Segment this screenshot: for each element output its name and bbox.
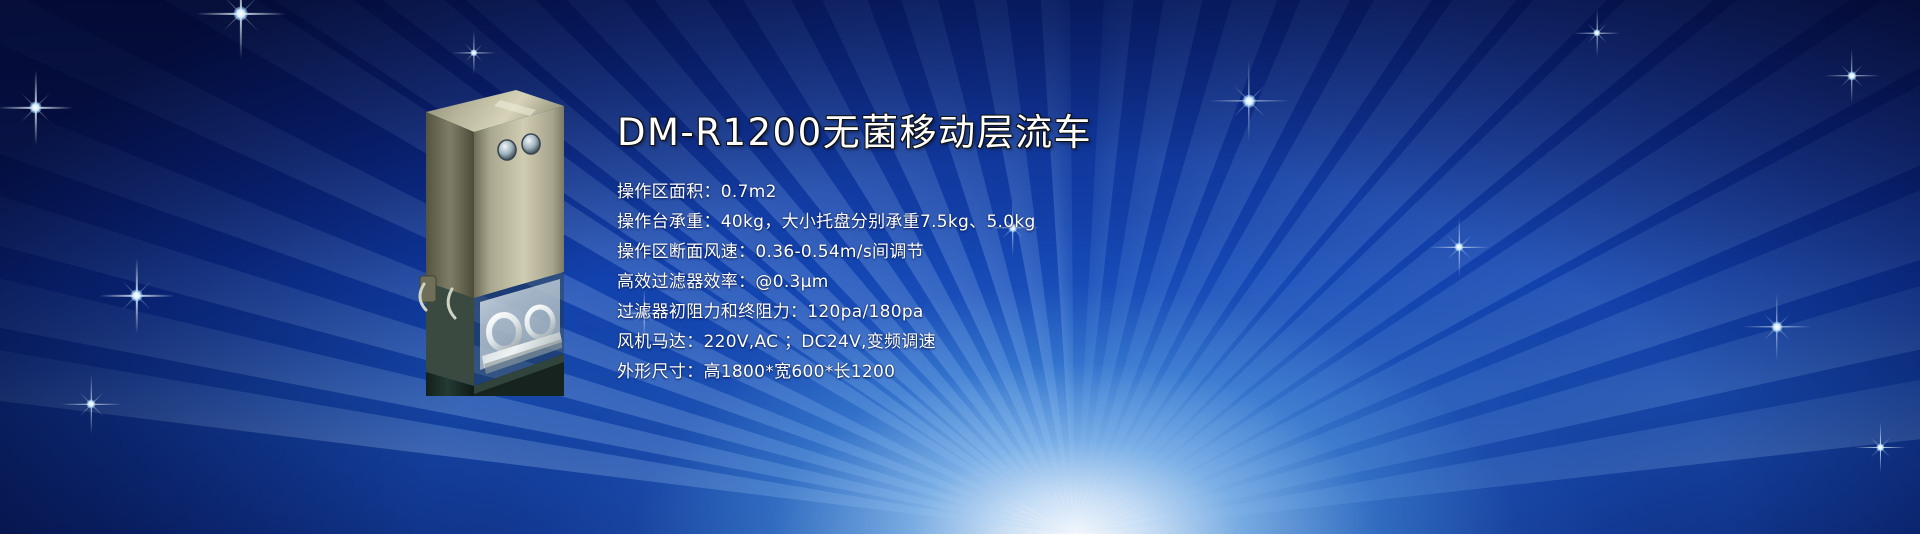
page-title: DM-R1200无菌移动层流车 [617,112,1237,153]
product-info-block: DM-R1200无菌移动层流车 操作区面积：0.7m2操作台承重：40kg，大小… [617,112,1237,387]
spec-item: 过滤器初阻力和终阻力：120pa/180pa [617,297,1237,327]
spec-list: 操作区面积：0.7m2操作台承重：40kg，大小托盘分别承重7.5kg、5.0k… [617,177,1237,387]
spec-item: 操作区面积：0.7m2 [617,177,1237,207]
spec-item: 外形尺寸：高1800*宽600*长1200 [617,357,1237,387]
spec-item: 操作台承重：40kg，大小托盘分别承重7.5kg、5.0kg [617,207,1237,237]
spec-item: 操作区断面风速：0.36-0.54m/s间调节 [617,237,1237,267]
spec-item: 高效过滤器效率：@0.3μm [617,267,1237,297]
spec-item: 风机马达：220V,AC ；DC24V,变频调速 [617,327,1237,357]
product-banner: DM-R1200无菌移动层流车 操作区面积：0.7m2操作台承重：40kg，大小… [0,0,1920,534]
product-image [404,86,576,396]
